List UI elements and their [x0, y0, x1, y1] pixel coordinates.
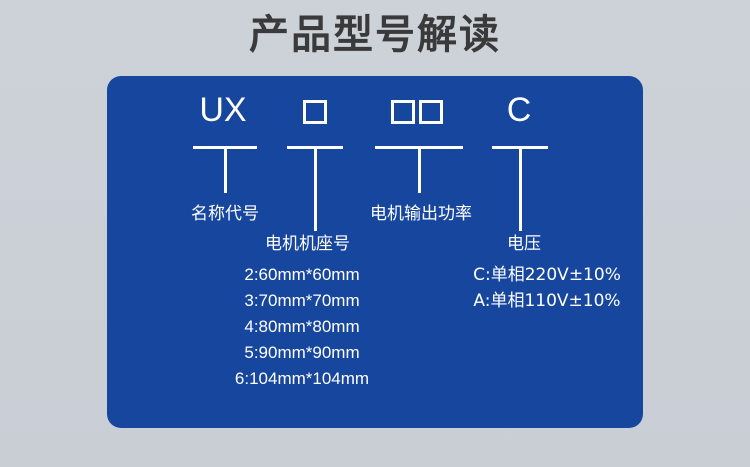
square-box-icon [303, 100, 327, 124]
list-item: 4:80mm*80mm [107, 314, 497, 340]
list-item: 2:60mm*60mm [107, 262, 497, 288]
callout-label-name: 名称代号 [191, 203, 259, 225]
connector-hbar-power [375, 146, 463, 149]
model-code-panel: UX C [107, 76, 643, 428]
connector-stem-frame [314, 146, 317, 231]
connector-stem-power [418, 146, 421, 193]
box-group-power [391, 92, 443, 132]
code-segment-voltage: C [489, 90, 549, 130]
list-item: 5:90mm*90mm [107, 340, 497, 366]
connector-hbar-name [193, 146, 257, 149]
list-item: C:单相220V±10% [452, 262, 642, 288]
model-code-row: UX C [107, 90, 643, 136]
square-box-icon [419, 100, 443, 124]
page-title: 产品型号解读 [0, 8, 750, 62]
callout-label-voltage: 电压 [507, 233, 541, 255]
code-segment-name: UX [175, 90, 271, 130]
callout-label-frame: 电机机座号 [265, 233, 350, 255]
list-item: 3:70mm*70mm [107, 288, 497, 314]
box-group-frame [303, 92, 327, 132]
frame-size-list: 2:60mm*60mm 3:70mm*70mm 4:80mm*80mm 5:90… [107, 262, 497, 392]
list-item: A:单相110V±10% [452, 288, 642, 314]
code-segment-frame [285, 90, 345, 132]
code-segment-power [371, 90, 463, 132]
page-root: 产品型号解读 UX C [0, 0, 750, 467]
connector-hbar-frame [287, 146, 343, 149]
square-box-icon [391, 100, 415, 124]
connector-hbar-voltage [492, 146, 548, 149]
voltage-list: C:单相220V±10% A:单相110V±10% [452, 262, 642, 314]
connector-stem-voltage [519, 146, 522, 231]
callout-label-power: 电机输出功率 [370, 203, 472, 225]
list-item: 6:104mm*104mm [107, 366, 497, 392]
connector-stem-name [224, 146, 227, 193]
